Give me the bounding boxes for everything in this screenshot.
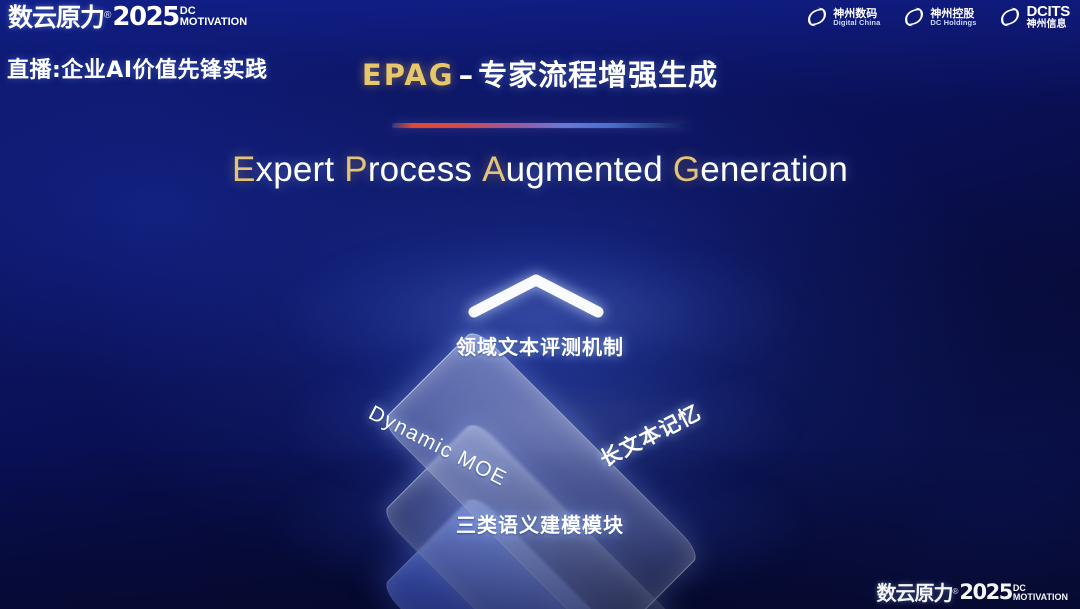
registered-mark-icon: ® — [104, 10, 111, 21]
word-initial: P — [344, 150, 368, 189]
word-initial: E — [232, 150, 256, 189]
partner-name-cn: 神州信息 — [1026, 19, 1070, 31]
headline-acronym: EPAG — [362, 58, 455, 92]
gradient-divider — [392, 123, 689, 128]
registered-mark-icon: ® — [952, 587, 958, 596]
partner-logo-dcits[interactable]: DCITS 神州信息 — [998, 4, 1070, 31]
chevron-up-icon — [466, 272, 606, 318]
partner-name-en: DCITS — [1026, 4, 1070, 19]
event-logo-motivation: MOTIVATION — [180, 17, 247, 29]
headline-chinese: 专家流程增强生成 — [478, 58, 718, 92]
partner-logo-digital-china[interactable]: 神州数码 Digital China — [805, 5, 880, 29]
event-logo: 数云原力 ® 2025 DC MOTIVATION — [8, 4, 247, 30]
event-logo-dc-motivation: DC MOTIVATION — [180, 6, 247, 29]
partner-text-dcits: DCITS 神州信息 — [1026, 4, 1070, 31]
english-word-expert: Expert — [232, 150, 334, 189]
watermark-logo-cn: 数云原力 — [876, 583, 952, 603]
swirl-logo-icon — [998, 5, 1022, 29]
partner-name-en: DC Holdings — [930, 19, 976, 27]
word-rest: eneration — [700, 150, 848, 189]
word-rest: rocess — [368, 150, 472, 189]
swirl-logo-icon — [805, 5, 829, 29]
corner-watermark-logo: 数云原力 ® 2025 DC MOTIVATION — [876, 582, 1068, 603]
partner-text-digital-china: 神州数码 Digital China — [833, 8, 880, 27]
word-initial: G — [673, 150, 700, 189]
headline-dash: – — [459, 58, 475, 92]
presentation-slide: 领域文本评测机制 Dynamic MOE 长文本记忆 三类语义建模模块 数云原力… — [0, 0, 1080, 609]
slide-headline: EPAG–专家流程增强生成 — [0, 52, 1080, 94]
english-word-generation: Generation — [673, 150, 848, 189]
partner-text-dc-holdings: 神州控股 DC Holdings — [930, 8, 976, 27]
english-word-process: Process — [344, 150, 472, 189]
watermark-dc-motivation: DC MOTIVATION — [1013, 584, 1068, 602]
partner-logo-dc-holdings[interactable]: 神州控股 DC Holdings — [902, 5, 976, 29]
word-rest: ugmented — [506, 150, 663, 189]
top-layer-wrap — [0, 328, 1080, 329]
word-rest: xpert — [256, 150, 335, 189]
partner-name-en: Digital China — [833, 19, 880, 27]
english-word-augmented: Augmented — [482, 150, 663, 189]
layer-label-top: 领域文本评测机制 — [0, 331, 1080, 360]
partner-logo-group: 神州数码 Digital China 神州控股 DC Holdings — [805, 4, 1070, 31]
english-subtitle: Expert Process Augmented Generation — [0, 150, 1080, 190]
event-logo-cn: 数云原力 — [8, 5, 104, 30]
swirl-logo-icon — [902, 5, 926, 29]
watermark-logo-year: 2025 — [959, 582, 1011, 603]
word-initial: A — [482, 150, 506, 189]
event-logo-year: 2025 — [112, 4, 178, 30]
layer-label-bottom: 三类语义建模模块 — [0, 509, 1080, 538]
watermark-logo-motivation: MOTIVATION — [1013, 593, 1068, 602]
